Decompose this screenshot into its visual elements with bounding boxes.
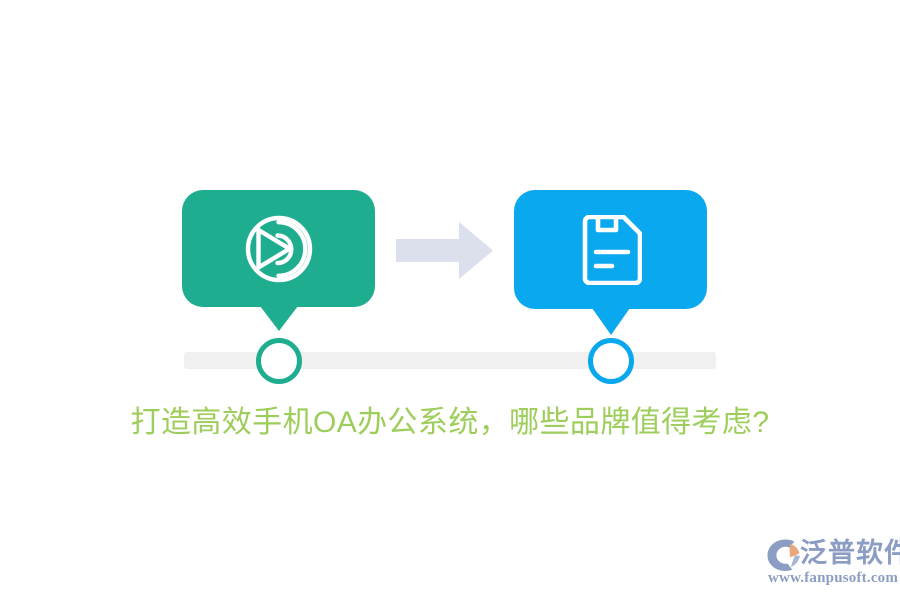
illustration-canvas: 打造高效手机OA办公系统，哪些品牌值得考虑? 泛普软件 www.fanpusof… bbox=[0, 0, 900, 600]
brand-url: www.fanpusoft.com bbox=[768, 569, 898, 588]
stage-two-node[interactable] bbox=[588, 338, 634, 384]
save-document-icon bbox=[514, 190, 707, 309]
document-save-card-pointer bbox=[592, 308, 630, 335]
mobile-oa-card[interactable] bbox=[182, 190, 375, 307]
mobile-oa-card-pointer bbox=[260, 306, 298, 331]
brand-name: 泛普软件 bbox=[800, 536, 900, 570]
page-title: 打造高效手机OA办公系统，哪些品牌值得考虑? bbox=[0, 402, 900, 444]
fanpu-logo-mark-icon bbox=[766, 538, 804, 572]
brand-watermark: 泛普软件 www.fanpusoft.com bbox=[766, 536, 892, 592]
right-arrow-icon bbox=[396, 222, 493, 279]
document-save-card[interactable] bbox=[514, 190, 707, 309]
stage-one-node[interactable] bbox=[256, 338, 302, 384]
signal-play-circle-icon bbox=[182, 190, 375, 307]
